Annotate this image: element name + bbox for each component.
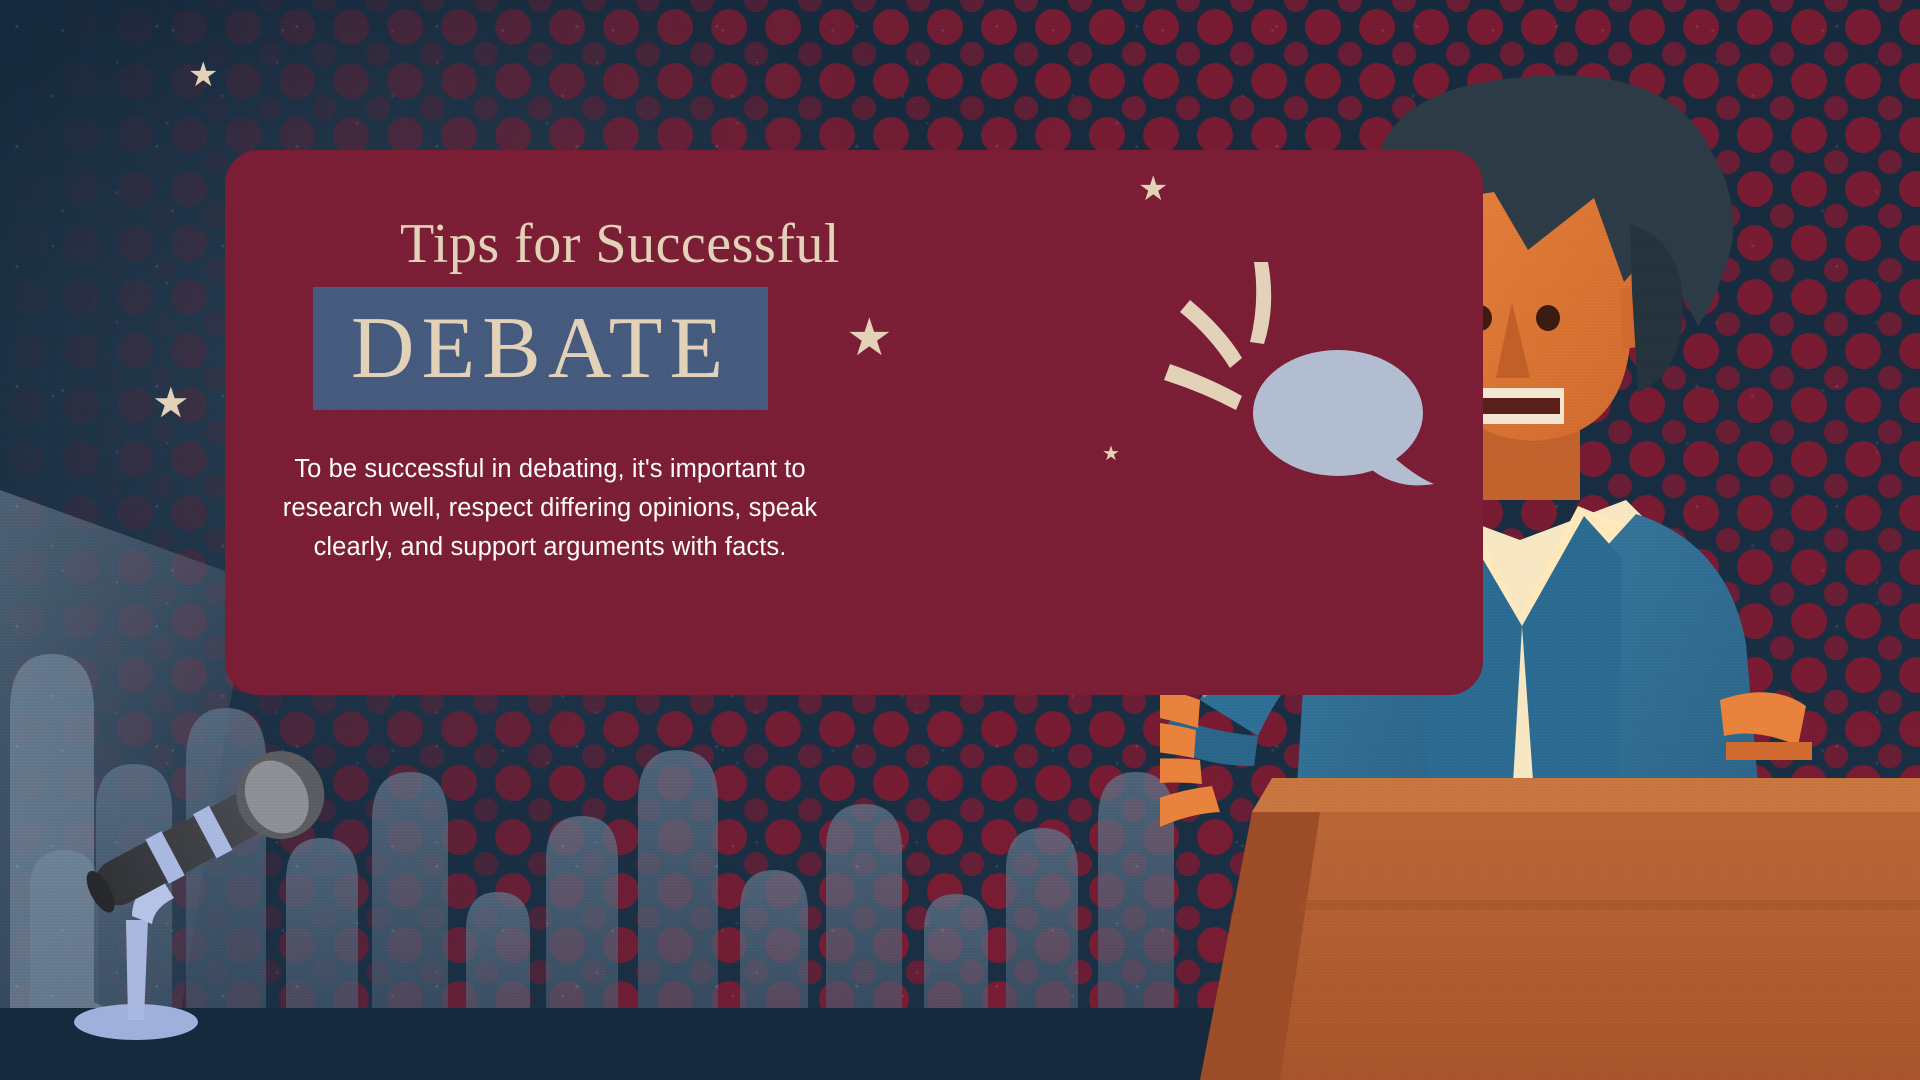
star-small-right-icon: ★ [1102, 444, 1120, 464]
page-title-eyebrow: Tips for Successful [225, 215, 1015, 274]
star-mid-left-icon: ★ [152, 382, 190, 424]
debate-poster: Tips for Successful DEBATE To be success… [0, 0, 1920, 1080]
podium-seam [1300, 900, 1920, 910]
podium-top [1252, 778, 1920, 812]
star-top-left-icon: ★ [188, 58, 218, 92]
speech-bubble [1253, 350, 1423, 476]
star-center-icon: ★ [846, 312, 893, 364]
mouth-opening [1472, 398, 1560, 414]
hand-right-fingers [1726, 742, 1812, 760]
burst-lines [1164, 262, 1271, 410]
speech-bubble-group [1120, 200, 1450, 500]
body-paragraph: To be successful in debating, it's impor… [250, 450, 850, 566]
star-bubble-top-icon: ★ [1138, 172, 1168, 206]
page-title-keyword: DEBATE [313, 287, 768, 410]
eye-right [1536, 305, 1560, 331]
microphone [20, 720, 390, 1050]
